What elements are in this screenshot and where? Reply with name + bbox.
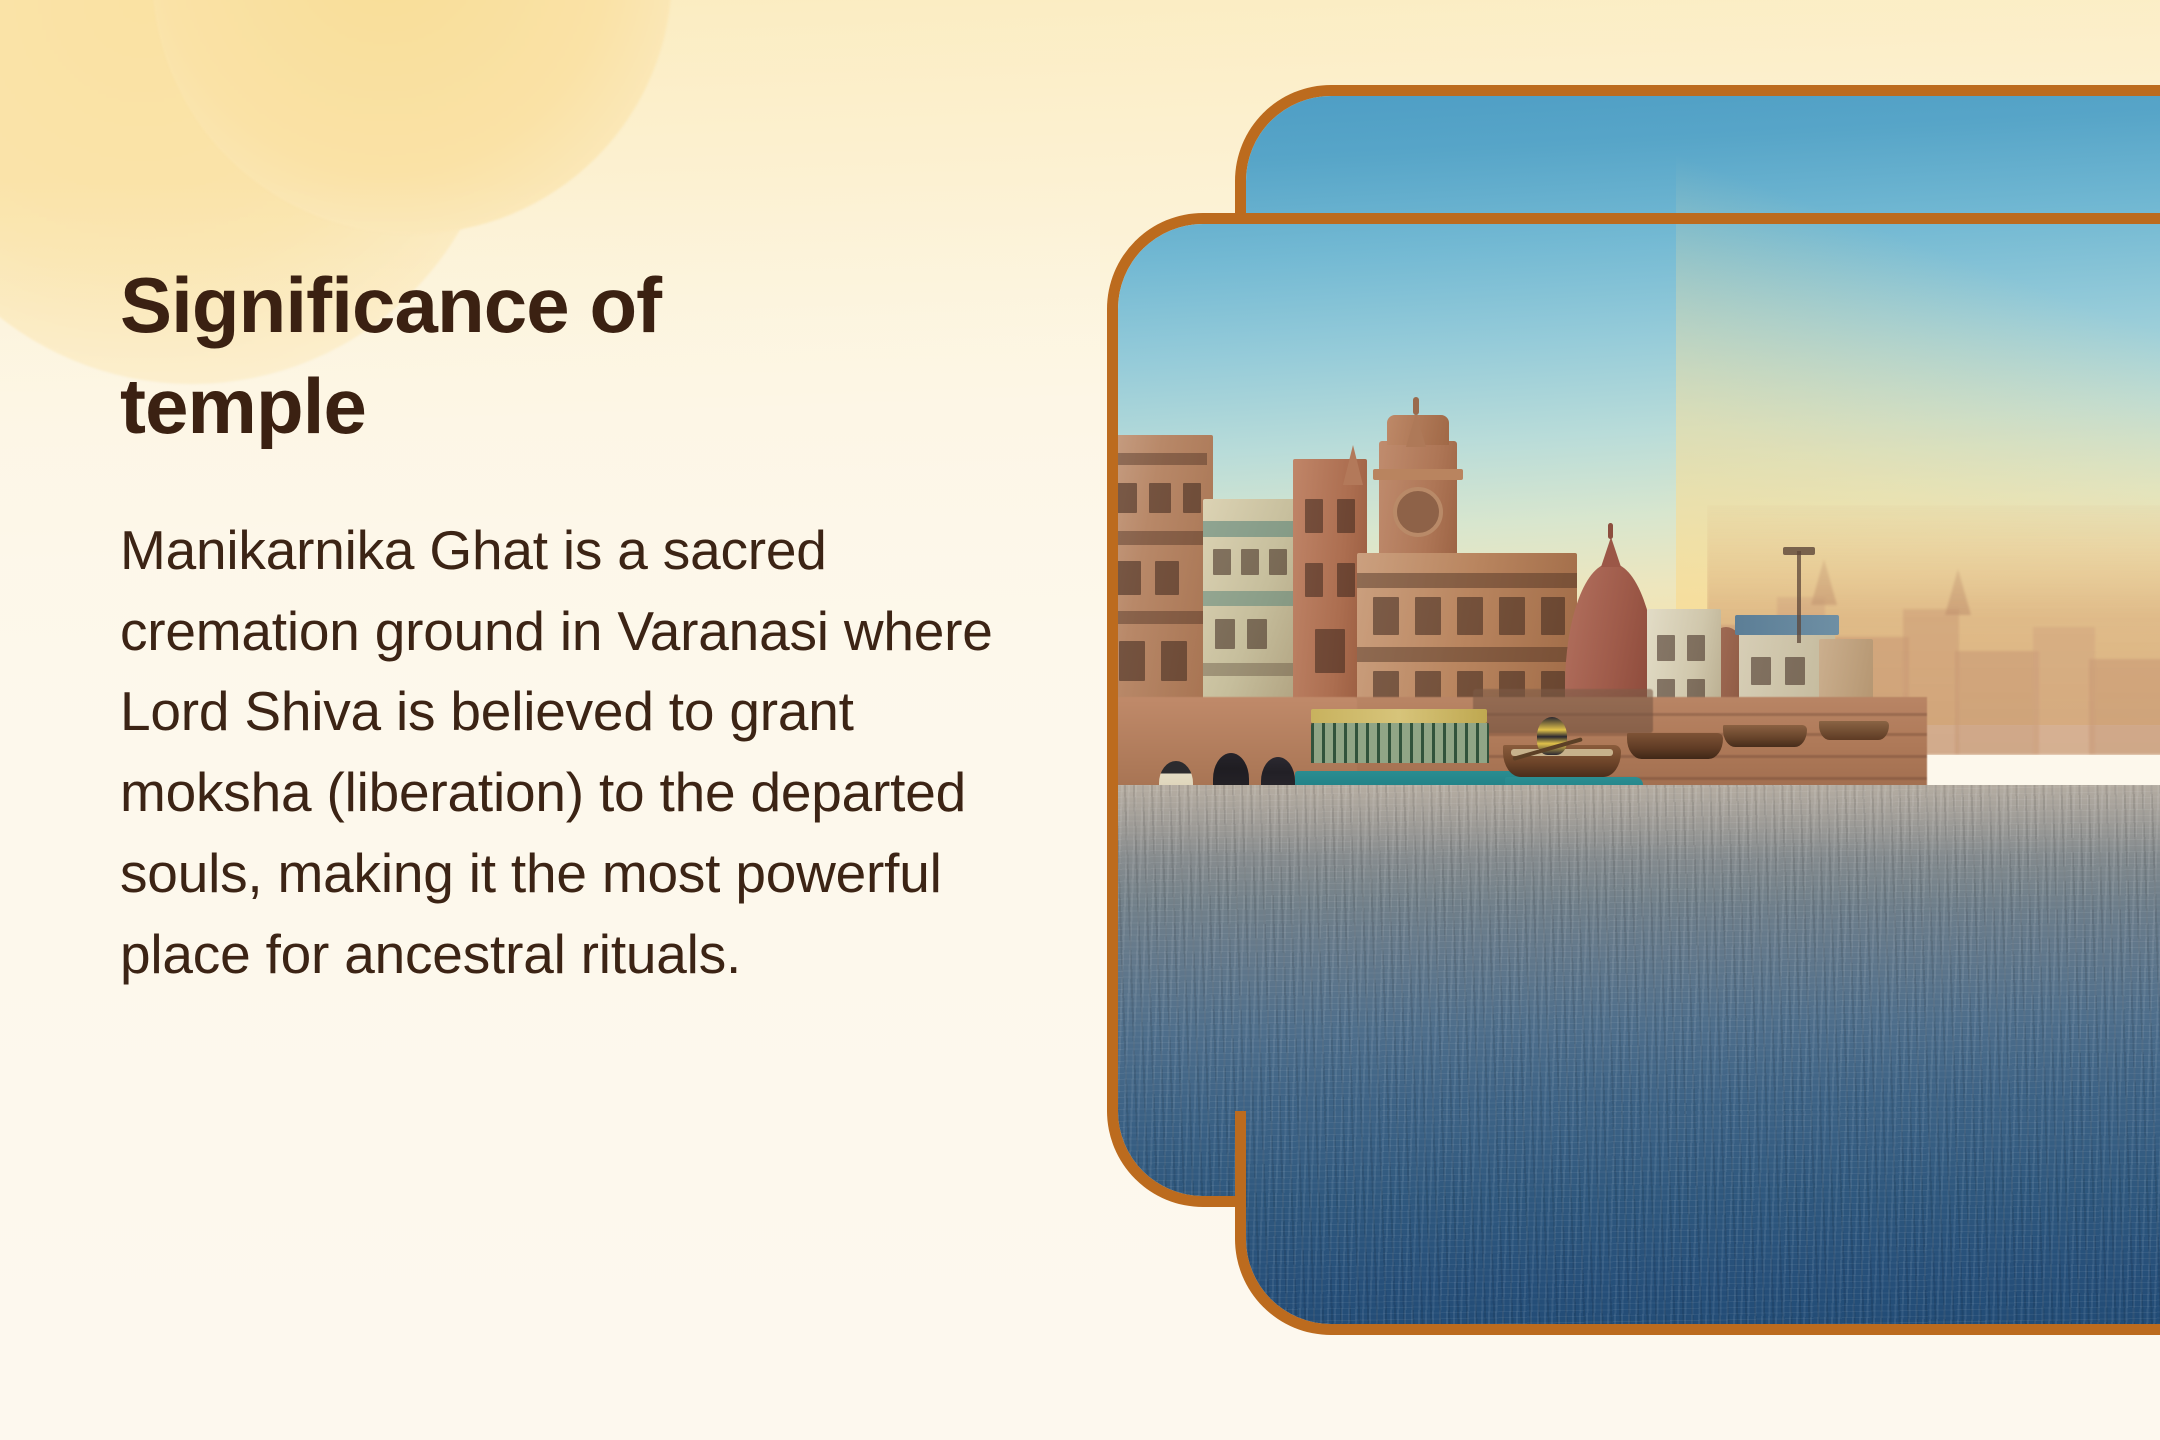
boat-canopy-awning [1311,709,1487,723]
clock-tower-spire [1406,413,1426,447]
clock-face [1393,487,1443,537]
building-left-tenement [1107,435,1213,735]
image-panel [1107,85,2160,1335]
ganges-river-water [1235,1111,2160,1335]
temple-shikhara-finial [1601,537,1621,567]
small-spire [1343,445,1363,485]
clock-tower-finial [1413,397,1419,415]
water-ripples [1235,1111,2160,1335]
text-column: Significance of temple Manikarnika Ghat … [120,255,1060,995]
boat-small-right-3 [1723,725,1807,747]
photo-frame-main [1107,213,2160,1207]
photo-canvas-main [1107,213,2160,1207]
varanasi-ghat-skyline [1107,415,1867,735]
floodlight-pole [1797,551,1801,643]
building-terracotta-mid [1293,459,1367,735]
body-paragraph: Manikarnika Ghat is a sacred cremation g… [120,510,1060,995]
photo-canvas-bottom [1235,1111,2160,1335]
floodlight-head [1783,547,1815,555]
blue-roof [1735,615,1839,635]
boat-cabin [1311,723,1489,763]
page-title: Significance of temple [120,255,820,458]
temple-flagpole [1608,523,1613,539]
boat-small-right-2 [1627,733,1723,759]
boat-small-right-4 [1819,721,1889,740]
photo-frame-bottom-shoulder [1235,1111,2160,1335]
